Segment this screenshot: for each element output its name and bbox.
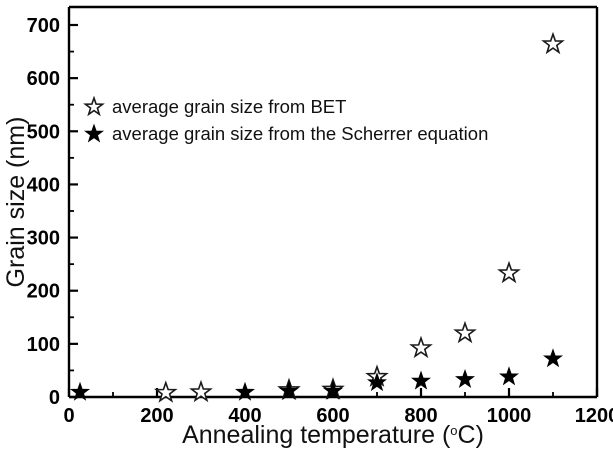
scatter-plot-svg: 0100200300400500600700 02004006008001000… (0, 0, 613, 451)
legend-label-scherrer: average grain size from the Scherrer equ… (112, 123, 488, 144)
legend: average grain size from BET average grai… (85, 96, 488, 144)
star-open-icon (85, 98, 102, 114)
y-axis-title: Grain size (nm) (2, 117, 30, 288)
y-tick-label: 300 (27, 228, 60, 250)
data-point-star-open (411, 338, 430, 356)
y-tick-label: 700 (27, 15, 60, 37)
data-point-star-open (455, 323, 474, 341)
legend-entry-scherrer: average grain size from the Scherrer equ… (85, 123, 488, 144)
plot-frame (69, 7, 597, 397)
series-scherrer (71, 350, 561, 400)
data-point-star-open (543, 34, 562, 52)
data-series-group (71, 34, 562, 401)
y-axis: 0100200300400500600700 (27, 15, 78, 409)
x-axis-title: Annealing temperature (oC) (182, 421, 484, 449)
series-bet (156, 34, 562, 401)
y-tick-label: 600 (27, 68, 60, 90)
data-point-star-filled (544, 350, 561, 366)
legend-entry-bet: average grain size from BET (85, 96, 346, 117)
y-tick-label: 200 (27, 281, 60, 303)
x-tick-label: 0 (63, 405, 74, 427)
x-tick-label: 200 (140, 405, 173, 427)
y-tick-label: 400 (27, 174, 60, 196)
chart-figure: 0100200300400500600700 02004006008001000… (0, 0, 613, 451)
legend-label-bet: average grain size from BET (112, 96, 346, 117)
x-tick-label: 1200 (575, 405, 613, 427)
y-tick-label: 100 (27, 334, 60, 356)
data-point-star-filled (500, 368, 517, 384)
x-tick-label: 1000 (487, 405, 532, 427)
y-tick-label: 0 (49, 387, 60, 409)
star-filled-icon (85, 125, 102, 141)
y-tick-label: 500 (27, 121, 60, 143)
data-point-star-filled (412, 372, 429, 388)
data-point-star-filled (456, 370, 473, 386)
data-point-star-open (499, 263, 518, 281)
